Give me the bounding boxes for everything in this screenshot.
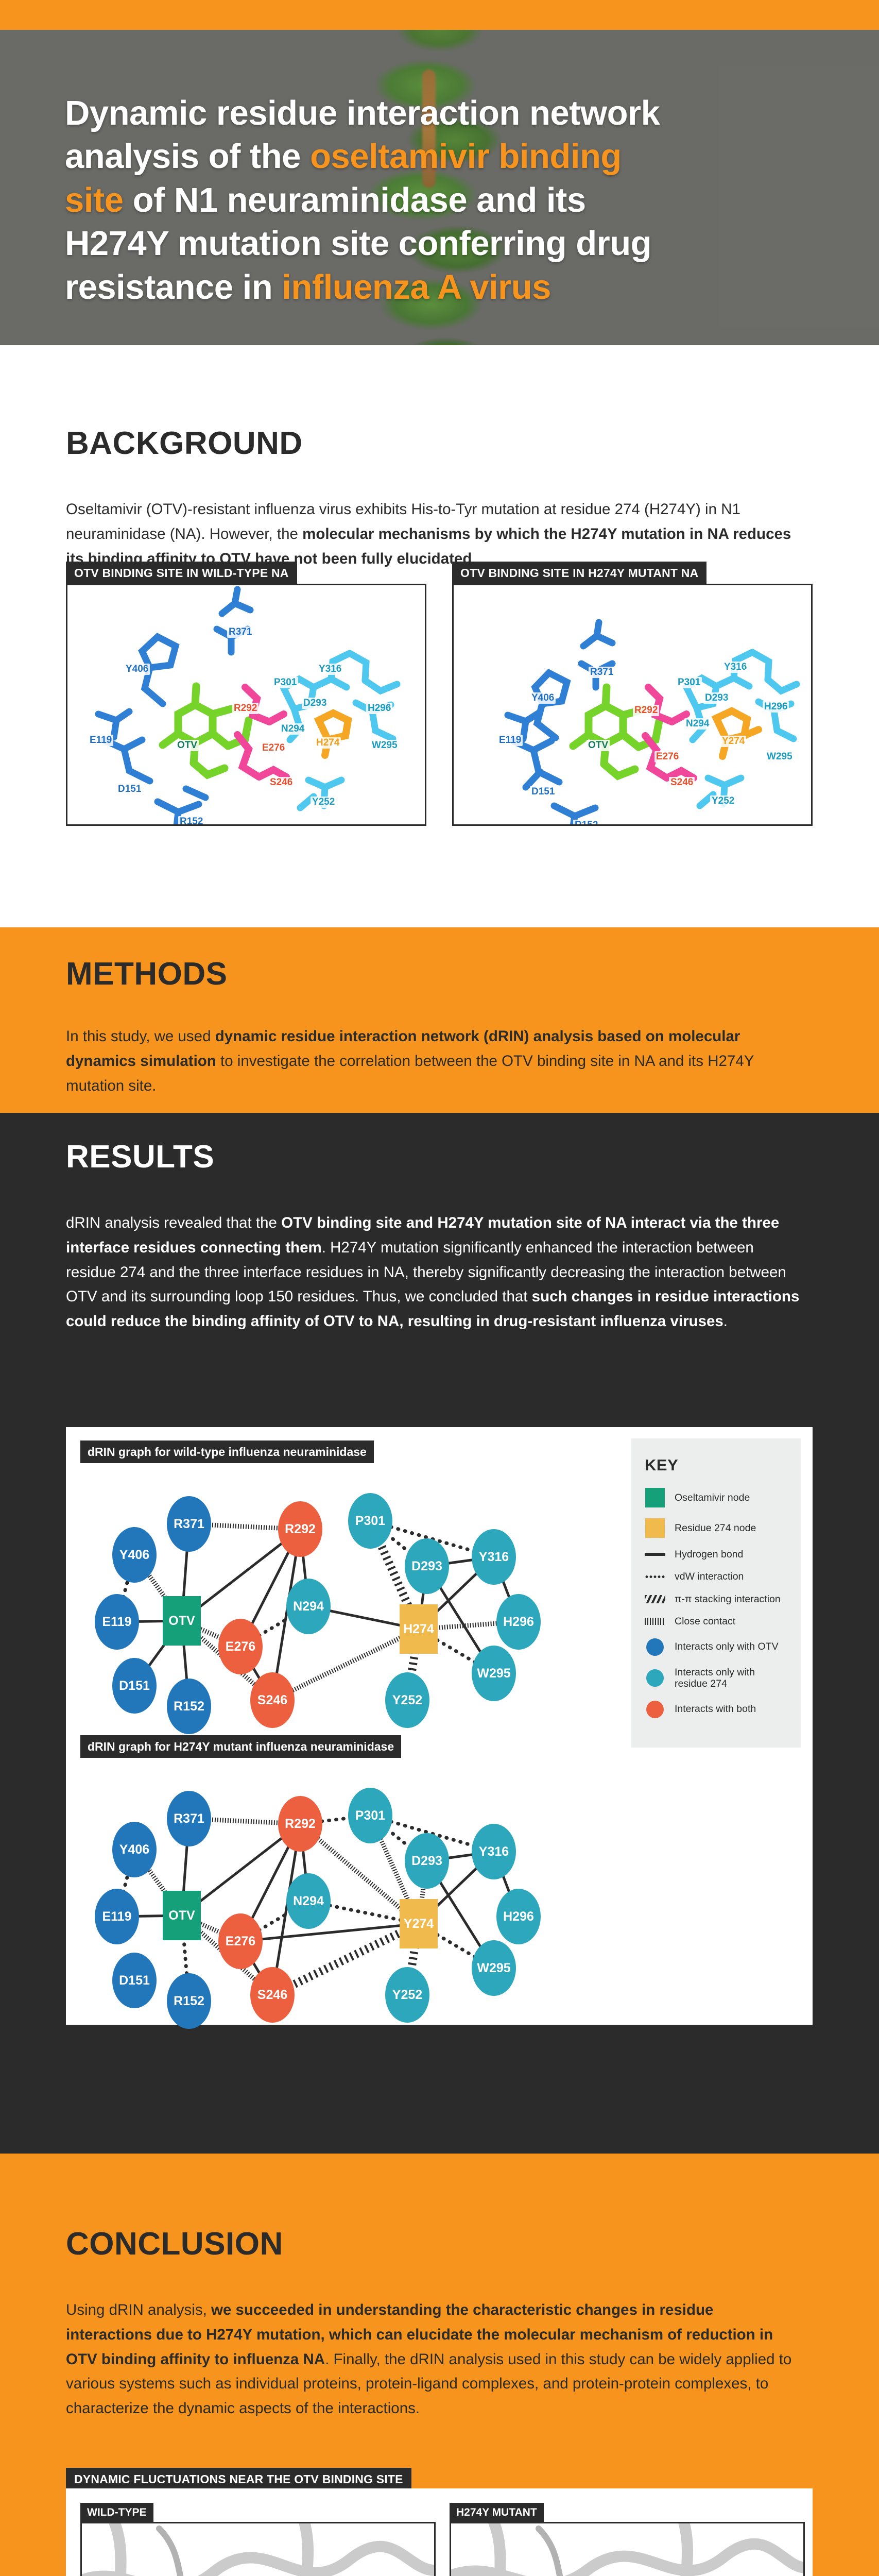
residue-label-otv: OTV xyxy=(176,740,199,751)
residue-label-y316: Y316 xyxy=(722,662,748,673)
drin-node-y316[interactable]: Y316 xyxy=(472,1824,516,1879)
legend-rows: Oseltamivir nodeResidue 274 nodeHydrogen… xyxy=(645,1488,788,1718)
title-line-2b: oseltamivir binding xyxy=(310,137,622,176)
residue-label-e119: E119 xyxy=(88,735,113,746)
methods-body: In this study, we used dynamic residue i… xyxy=(66,1024,797,1098)
legend-item: Interacts only with residue 274 xyxy=(645,1667,788,1690)
results-section: RESULTS dRIN analysis revealed that the … xyxy=(0,1113,879,2154)
drin-node-d293[interactable]: D293 xyxy=(405,1833,449,1889)
residue-label-e276: E276 xyxy=(654,751,680,762)
legend-item: Oseltamivir node xyxy=(645,1488,788,1507)
residue-label-p301: P301 xyxy=(676,677,702,688)
title-line-5a: resistance in xyxy=(65,268,282,307)
top-accent-strip xyxy=(0,0,879,30)
fluctuation-card-wildtype: WILD-TYPE xyxy=(80,2503,436,2576)
drin-node-y252[interactable]: Y252 xyxy=(385,1672,429,1728)
background-heading: BACKGROUND xyxy=(66,425,303,462)
drin-node-e119[interactable]: E119 xyxy=(95,1594,139,1650)
drin-node-y406[interactable]: Y406 xyxy=(112,1822,157,1877)
page-title: Dynamic residue interaction network anal… xyxy=(65,92,796,309)
title-line-3b: of N1 neuraminidase and its xyxy=(123,181,585,219)
dotted-line-swatch xyxy=(645,1575,665,1579)
legend-item-label: π-π stacking interaction xyxy=(675,1594,781,1605)
conclusion-heading: CONCLUSION xyxy=(66,2226,283,2262)
fluctuation-label-mutant: H274Y MUTANT xyxy=(450,2503,544,2522)
poster-root: Dynamic residue interaction network anal… xyxy=(0,0,879,2576)
drin-node-d151[interactable]: D151 xyxy=(112,1658,157,1714)
conclusion-body: Using dRIN analysis, we succeeded in und… xyxy=(66,2298,802,2421)
residue-label-h296: H296 xyxy=(763,701,789,713)
methods-section: METHODS In this study, we used dynamic r… xyxy=(0,927,879,1113)
legend-item-label: Interacts only with OTV xyxy=(675,1641,779,1652)
drin-node-otv[interactable]: OTV xyxy=(163,1891,201,1940)
drin-node-h296[interactable]: H296 xyxy=(496,1889,541,1944)
drin-node-h296[interactable]: H296 xyxy=(496,1594,541,1650)
residue-label-r292: R292 xyxy=(633,705,659,716)
legend-item: Hydrogen bond xyxy=(645,1549,788,1560)
methods-heading: METHODS xyxy=(66,956,228,992)
residue-label-r371: R371 xyxy=(227,626,253,638)
binding-site-figure-row: OTV BINDING SITE IN WILD-TYPE NA xyxy=(66,562,813,829)
legend-item: Interacts with both xyxy=(645,1701,788,1718)
legend-item-label: Interacts only with residue 274 xyxy=(675,1667,788,1690)
residue-label-h296: H296 xyxy=(366,703,392,714)
cyan-circle-swatch xyxy=(645,1669,665,1687)
drin-node-r371[interactable]: R371 xyxy=(167,1791,211,1846)
legend-item-label: Interacts with both xyxy=(675,1703,756,1715)
results-heading: RESULTS xyxy=(66,1139,214,1175)
methods-text-1: In this study, we used xyxy=(66,1028,215,1045)
ticked-line-swatch xyxy=(645,1618,665,1625)
legend-item-label: Close contact xyxy=(675,1616,735,1627)
results-body: dRIN analysis revealed that the OTV bind… xyxy=(66,1211,802,1334)
legend-item-label: Residue 274 node xyxy=(675,1522,756,1534)
fluctuation-box-mutant xyxy=(450,2522,805,2576)
conclusion-section: CONCLUSION Using dRIN analysis, we succe… xyxy=(0,2154,879,2576)
figure-card-mutant: OTV BINDING SITE IN H274Y MUTANT NA xyxy=(452,562,813,829)
title-line-1: Dynamic residue interaction network xyxy=(65,94,660,132)
drin-node-r152[interactable]: R152 xyxy=(167,1679,211,1734)
hero-banner: Dynamic residue interaction network anal… xyxy=(0,30,879,345)
drin-graph-wildtype: Y406R371R292P301D293Y316E119OTVN294H296H… xyxy=(80,1466,559,1724)
green-square-swatch xyxy=(645,1488,665,1507)
drin-node-w295[interactable]: W295 xyxy=(472,1940,516,1996)
drin-node-e276[interactable]: E276 xyxy=(218,1619,263,1674)
drin-node-y252[interactable]: Y252 xyxy=(385,1967,429,2023)
residue-label-d293: D293 xyxy=(703,692,730,704)
background-section: BACKGROUND Oseltamivir (OTV)-resistant i… xyxy=(0,345,879,896)
figure-box-wildtype: R371Y406E119D151R152OTVR292E276S246P301D… xyxy=(66,584,426,826)
residue-label-otv: OTV xyxy=(587,740,610,751)
residue-label-y406: Y406 xyxy=(530,692,556,704)
drin-node-n294[interactable]: N294 xyxy=(286,1579,331,1634)
residue-label-d293: D293 xyxy=(302,698,328,709)
drin-node-d151[interactable]: D151 xyxy=(112,1953,157,2008)
legend-item: Interacts only with OTV xyxy=(645,1638,788,1656)
residue-label-y316: Y316 xyxy=(317,664,343,675)
red-circle-swatch xyxy=(645,1701,665,1718)
drin-node-p301[interactable]: P301 xyxy=(348,1493,392,1549)
residue-label-y274: Y274 xyxy=(720,736,746,747)
title-line-3a: site xyxy=(65,181,123,219)
background-body: Oseltamivir (OTV)-resistant influenza vi… xyxy=(66,497,802,571)
title-line-5b: influenza A virus xyxy=(282,268,551,307)
drin-node-e276[interactable]: E276 xyxy=(218,1913,263,1969)
solid-line-swatch xyxy=(645,1553,665,1556)
drin-graph-panel: dRIN graph for wild-type influenza neura… xyxy=(66,1427,813,2025)
residue-label-w295: W295 xyxy=(370,740,399,751)
conclusion-text-1: Using dRIN analysis, xyxy=(66,2301,211,2318)
drin-node-r371[interactable]: R371 xyxy=(167,1496,211,1552)
residue-label-s246: S246 xyxy=(669,777,695,788)
fluctuation-card-mutant: H274Y MUTANT xyxy=(450,2503,805,2576)
drin-node-y406[interactable]: Y406 xyxy=(112,1527,157,1583)
residue-label-y406: Y406 xyxy=(124,664,150,675)
md-ensemble-mutant xyxy=(451,2523,805,2576)
residue-label-h274: H274 xyxy=(315,737,341,749)
gold-square-swatch xyxy=(645,1518,665,1538)
residue-label-d151: D151 xyxy=(530,786,556,798)
legend-key: KEY Oseltamivir nodeResidue 274 nodeHydr… xyxy=(631,1438,801,1748)
residue-label-e119: E119 xyxy=(497,735,523,746)
md-ensemble-wildtype xyxy=(82,2523,436,2576)
drin-node-r292[interactable]: R292 xyxy=(278,1501,322,1557)
residue-label-r152: R152 xyxy=(178,816,204,826)
drin-node-r292[interactable]: R292 xyxy=(278,1796,322,1852)
residue-label-w295: W295 xyxy=(765,751,794,762)
residue-label-y252: Y252 xyxy=(311,796,336,808)
legend-title: KEY xyxy=(645,1456,788,1475)
residue-label-y252: Y252 xyxy=(710,795,736,807)
hatched-line-swatch xyxy=(645,1595,665,1603)
drin-node-p301[interactable]: P301 xyxy=(348,1788,392,1843)
blue-circle-swatch xyxy=(645,1638,665,1656)
legend-item: Residue 274 node xyxy=(645,1518,788,1538)
drin-node-y316[interactable]: Y316 xyxy=(472,1529,516,1585)
drin-node-n294[interactable]: N294 xyxy=(286,1873,331,1929)
residue-label-r371: R371 xyxy=(589,667,615,678)
drin-mutant-caption: dRIN graph for H274Y mutant influenza ne… xyxy=(80,1735,401,1758)
drin-wildtype-caption: dRIN graph for wild-type influenza neura… xyxy=(80,1440,374,1463)
legend-item: π-π stacking interaction xyxy=(645,1594,788,1605)
title-line-2a: analysis of the xyxy=(65,137,310,176)
legend-item-label: vdW interaction xyxy=(675,1571,744,1582)
legend-item: Close contact xyxy=(645,1616,788,1627)
fluctuation-box-wildtype xyxy=(80,2522,436,2576)
residue-label-p301: P301 xyxy=(272,677,298,688)
fluctuations-caption: DYNAMIC FLUCTUATIONS NEAR THE OTV BINDIN… xyxy=(66,2468,411,2490)
fluctuations-panel: WILD-TYPE xyxy=(66,2488,813,2576)
legend-item-label: Oseltamivir node xyxy=(675,1492,750,1503)
residue-label-r292: R292 xyxy=(232,703,258,714)
figure-caption-wildtype: OTV BINDING SITE IN WILD-TYPE NA xyxy=(66,562,297,584)
drin-node-d293[interactable]: D293 xyxy=(405,1538,449,1594)
drin-node-s246[interactable]: S246 xyxy=(250,1967,295,2023)
drin-node-h274[interactable]: H274 xyxy=(400,1604,438,1654)
drin-node-e119[interactable]: E119 xyxy=(95,1889,139,1944)
residue-label-r152: R152 xyxy=(573,820,599,826)
drin-node-r152[interactable]: R152 xyxy=(167,1973,211,2029)
drin-node-y274[interactable]: Y274 xyxy=(400,1899,438,1948)
figure-caption-mutant: OTV BINDING SITE IN H274Y MUTANT NA xyxy=(452,562,706,584)
residue-label-d151: D151 xyxy=(116,784,143,795)
legend-item: vdW interaction xyxy=(645,1571,788,1582)
residue-label-n294: N294 xyxy=(280,723,306,735)
legend-item-label: Hydrogen bond xyxy=(675,1549,743,1560)
drin-node-otv[interactable]: OTV xyxy=(163,1596,201,1646)
drin-node-w295[interactable]: W295 xyxy=(472,1646,516,1701)
figure-card-wildtype: OTV BINDING SITE IN WILD-TYPE NA xyxy=(66,562,426,829)
results-text-3: . xyxy=(723,1313,728,1330)
fluctuation-label-wildtype: WILD-TYPE xyxy=(80,2503,153,2522)
drin-graph-mutant: Y406R371R292P301D293Y316E119OTVN294H296Y… xyxy=(80,1761,559,2019)
residue-label-e276: E276 xyxy=(261,742,286,754)
drin-node-s246[interactable]: S246 xyxy=(250,1672,295,1728)
figure-box-mutant: R371Y406E119D151R152OTVR292E276S246P301D… xyxy=(452,584,813,826)
residue-label-s246: S246 xyxy=(268,777,294,788)
residue-label-n294: N294 xyxy=(684,718,711,730)
title-line-4: H274Y mutation site conferring drug xyxy=(65,224,651,263)
results-text-1: dRIN analysis revealed that the xyxy=(66,1214,281,1231)
